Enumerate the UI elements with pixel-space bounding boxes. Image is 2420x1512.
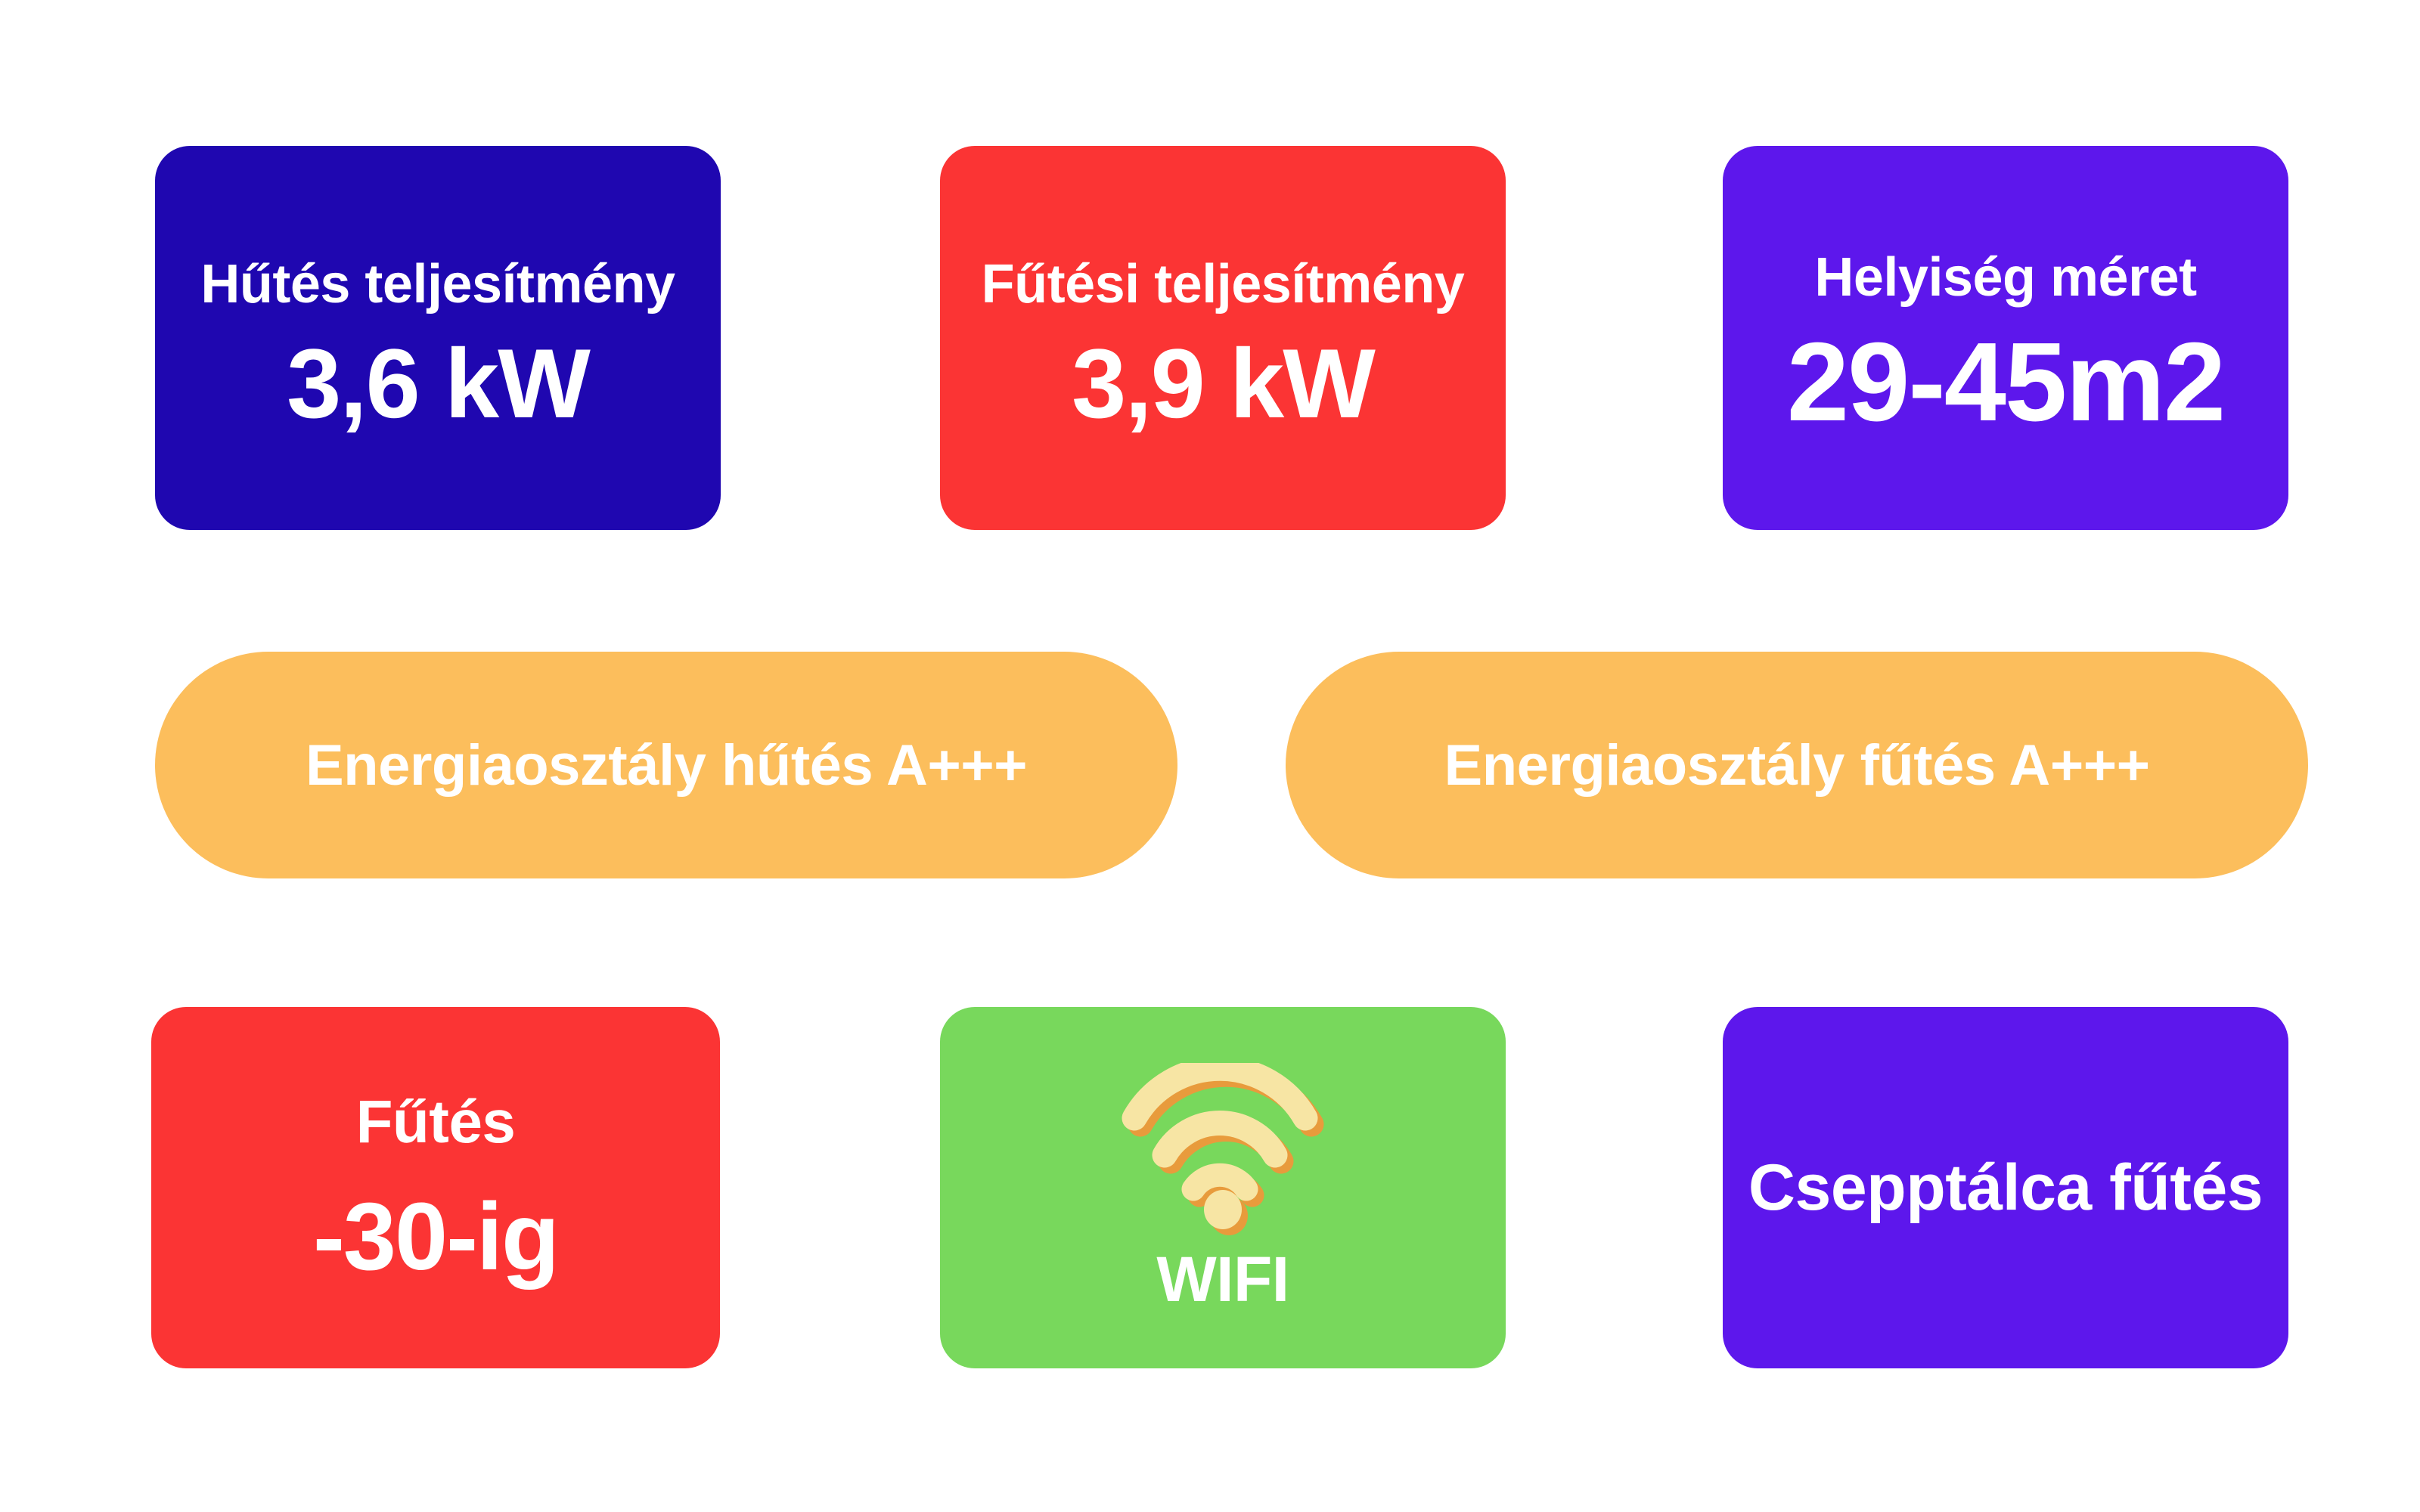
card-value: 29-45m2 <box>1787 326 2224 440</box>
card-title: WIFI <box>1156 1246 1289 1312</box>
card-value: 3,9 kW <box>1072 333 1374 434</box>
card-cooling-power: Hűtés teljesítmény 3,6 kW <box>155 146 721 530</box>
card-title: Hűtés teljesítmény <box>200 256 675 314</box>
card-value: -30-ig <box>313 1188 558 1286</box>
card-title: Fűtési teljesítmény <box>982 256 1465 314</box>
pill-energy-class-heating: Energiaosztály fűtés A+++ <box>1286 652 2308 878</box>
card-drip-tray-heating: Csepptálca fűtés <box>1723 1007 2288 1368</box>
wifi-icon <box>1121 1063 1325 1237</box>
card-title: Csepptálca fűtés <box>1748 1146 2263 1229</box>
pill-energy-class-cooling: Energiaosztály hűtés A+++ <box>155 652 1177 878</box>
card-value: 3,6 kW <box>287 333 589 434</box>
card-title: Fűtés <box>356 1090 516 1154</box>
pill-label: Energiaosztály hűtés A+++ <box>306 733 1027 798</box>
card-wifi: WIFI <box>940 1007 1506 1368</box>
card-room-size: Helyiség méret 29-45m2 <box>1723 146 2288 530</box>
pill-label: Energiaosztály fűtés A+++ <box>1444 733 2150 798</box>
card-heating-range: Fűtés -30-ig <box>151 1007 720 1368</box>
card-heating-power: Fűtési teljesítmény 3,9 kW <box>940 146 1506 530</box>
card-title: Helyiség méret <box>1814 249 2196 307</box>
spec-sheet: Hűtés teljesítmény 3,6 kW Fűtési teljesí… <box>0 0 2420 1512</box>
